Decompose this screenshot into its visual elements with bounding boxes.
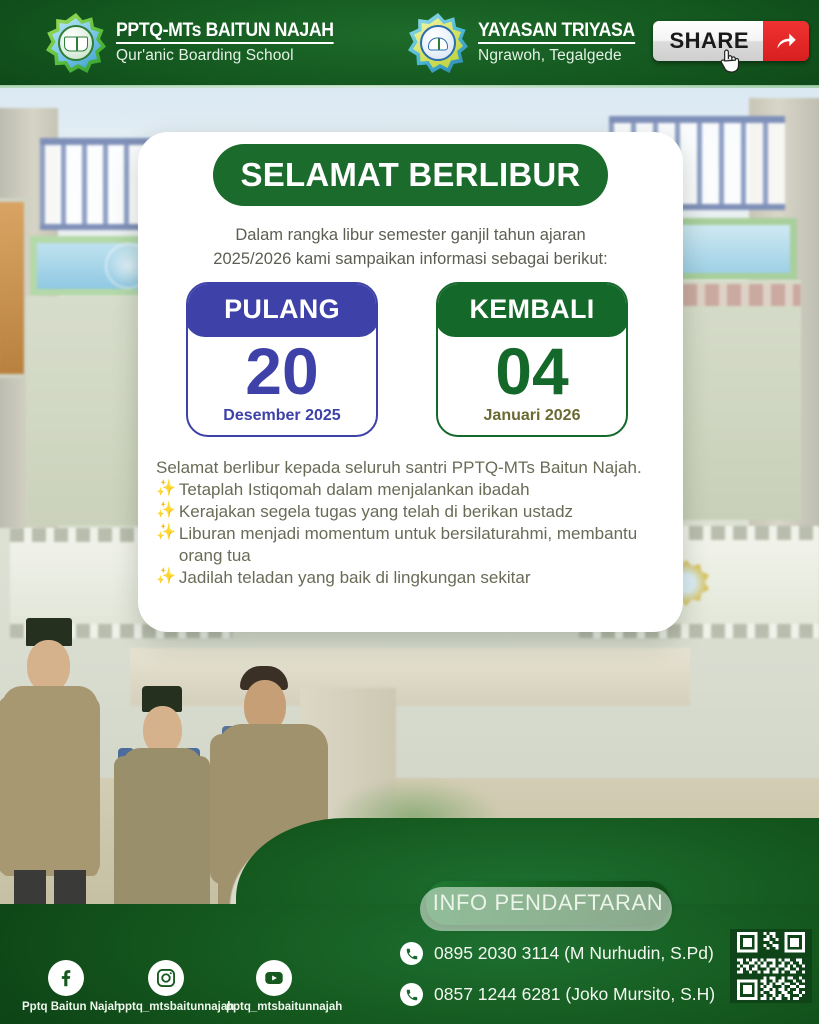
card-intro-line-1: Dalam rangka libur semester ganjil tahun…	[168, 224, 653, 248]
building-door-left	[0, 198, 28, 378]
social-youtube-name: pptq_mtsbaitunnajah	[226, 1001, 322, 1013]
youtube-icon	[256, 960, 292, 996]
list-item-text: Jadilah teladan yang baik di lingkungan …	[179, 567, 676, 589]
bullet-list: Selamat berlibur kepada seluruh santri P…	[156, 457, 676, 590]
contact-row-2[interactable]: 0857 1244 6281 (Joko Mursito, S.H)	[400, 983, 715, 1006]
brand-school[interactable]: PPTQ-MTs BAITUN NAJAH Qur'anic Boarding …	[46, 13, 350, 73]
phone-icon	[400, 983, 423, 1006]
brand-school-subtitle: Qur'anic Boarding School	[116, 48, 350, 65]
sparkle-icon: ✨	[156, 501, 176, 522]
date-badge-kembali-month: Januari 2026	[438, 407, 626, 425]
list-item-text: Selamat berlibur kepada seluruh santri P…	[156, 457, 676, 479]
list-item: ✨ Liburan menjadi momentum untuk bersila…	[156, 523, 676, 567]
date-badge-kembali-day: 04	[438, 338, 626, 404]
contact-phone-2: 0857 1244 6281 (Joko Mursito, S.H)	[434, 984, 715, 1005]
date-badge-pulang-label: PULANG	[224, 294, 340, 325]
date-badge-kembali: KEMBALI 04 Januari 2026	[436, 282, 628, 437]
social-youtube[interactable]: pptq_mtsbaitunnajah	[226, 960, 322, 1013]
instagram-icon	[148, 960, 184, 996]
info-pendaftaran-label: INFO PENDAFTARAN	[433, 890, 663, 916]
sparkle-icon: ✨	[156, 567, 176, 588]
list-item: ✨ Tetaplah Istiqomah dalam menjalankan i…	[156, 479, 676, 501]
brand-school-text: PPTQ-MTs BAITUN NAJAH Qur'anic Boarding …	[116, 21, 350, 65]
sparkle-icon: ✨	[156, 523, 176, 544]
facebook-icon	[48, 960, 84, 996]
contact-phone-1: 0895 2030 3114 (M Nurhudin, S.Pd)	[434, 943, 714, 964]
card-intro: Dalam rangka libur semester ganjil tahun…	[168, 224, 653, 272]
foundation-seal-icon	[408, 13, 468, 73]
list-item: ✨ Kerajakan segela tugas yang telah di b…	[156, 501, 676, 523]
poster-root: AR	[0, 0, 819, 1024]
announcement-card: SELAMAT BERLIBUR Dalam rangka libur seme…	[138, 132, 683, 632]
date-badge-pulang-day: 20	[188, 338, 376, 404]
share-button[interactable]: SHARE	[653, 21, 809, 61]
qr-code-icon[interactable]	[730, 929, 812, 1003]
date-badge-kembali-header: KEMBALI	[436, 282, 628, 337]
contact-row-1[interactable]: 0895 2030 3114 (M Nurhudin, S.Pd)	[400, 942, 714, 965]
list-item-text: Liburan menjadi momentum untuk bersilatu…	[179, 523, 676, 567]
card-intro-line-2: 2025/2026 kami sampaikan informasi sebag…	[168, 248, 653, 272]
list-item: ✨ Jadilah teladan yang baik di lingkunga…	[156, 567, 676, 589]
brand-school-title: PPTQ-MTs BAITUN NAJAH	[116, 21, 334, 45]
date-badge-pulang-header: PULANG	[186, 282, 378, 337]
brand-foundation[interactable]: YAYASAN TRIYASA Ngrawoh, Tegalgede	[408, 13, 647, 73]
page-title: SELAMAT BERLIBUR	[241, 156, 581, 194]
info-pendaftaran-badge: INFO PENDAFTARAN	[426, 881, 670, 925]
share-button-label: SHARE	[653, 21, 763, 61]
brand-foundation-text: YAYASAN TRIYASA Ngrawoh, Tegalgede	[478, 21, 647, 65]
share-arrow-icon	[763, 21, 809, 61]
header-bar: PPTQ-MTs BAITUN NAJAH Qur'anic Boarding …	[0, 0, 819, 88]
brand-foundation-title: YAYASAN TRIYASA	[478, 21, 635, 45]
phone-icon	[400, 942, 423, 965]
date-badge-pulang: PULANG 20 Desember 2025	[186, 282, 378, 437]
ceiling-beam	[130, 648, 690, 706]
card-title-pill: SELAMAT BERLIBUR	[213, 144, 608, 206]
social-instagram[interactable]: pptq_mtsbaitunnajah	[118, 960, 214, 1013]
list-item: Selamat berlibur kepada seluruh santri P…	[156, 457, 676, 479]
social-facebook[interactable]: Pptq Baitun Najah	[22, 960, 110, 1013]
date-badge-pulang-month: Desember 2025	[188, 407, 376, 425]
sparkle-icon: ✨	[156, 479, 176, 500]
brand-foundation-subtitle: Ngrawoh, Tegalgede	[478, 48, 647, 65]
list-item-text: Kerajakan segela tugas yang telah di ber…	[179, 501, 676, 523]
list-item-text: Tetaplah Istiqomah dalam menjalankan iba…	[179, 479, 676, 501]
social-facebook-name: Pptq Baitun Najah	[22, 1001, 110, 1013]
social-instagram-name: pptq_mtsbaitunnajah	[118, 1001, 214, 1013]
date-badge-kembali-label: KEMBALI	[469, 294, 594, 325]
school-seal-icon	[46, 13, 106, 73]
